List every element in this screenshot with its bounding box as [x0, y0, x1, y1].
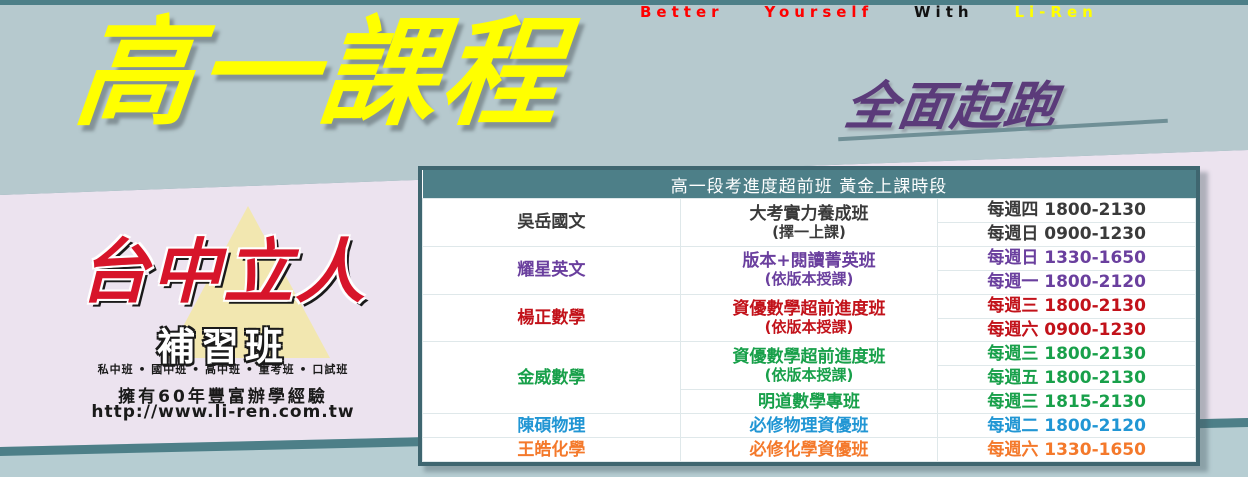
table-header-title: 高一段考進度超前班 黃金上課時段 [423, 170, 1196, 199]
tagline-word-better: Better [640, 3, 724, 21]
table-row: 楊正數學資優數學超前進度班(依版本授課)每週三 1800-2130 [423, 294, 1196, 318]
cell-time: 每週六 1330-1650 [938, 438, 1196, 462]
cell-course: 資優數學超前進度班(依版本授課) [680, 294, 938, 342]
cell-course: 版本+閱讀菁英班(依版本授課) [680, 246, 938, 294]
cell-time: 每週二 1800-2120 [938, 414, 1196, 438]
tagline-word-with: With [914, 3, 974, 21]
logo-website-url[interactable]: http://www.li-ren.com.tw [58, 402, 388, 422]
cell-time: 每週三 1815-2130 [938, 390, 1196, 414]
schedule-table-container: 高一段考進度超前班 黃金上課時段 吳岳國文大考實力養成班(擇一上課)每週四 18… [418, 166, 1200, 466]
cell-time: 每週日 0900-1230 [938, 222, 1196, 246]
cell-course: 必修化學資優班 [680, 438, 938, 462]
logo-brand-name: 台中立人 [58, 216, 388, 317]
schedule-table: 高一段考進度超前班 黃金上課時段 吳岳國文大考實力養成班(擇一上課)每週四 18… [422, 170, 1196, 462]
table-row: 吳岳國文大考實力養成班(擇一上課)每週四 1800-2130 [423, 199, 1196, 223]
cell-teacher: 金威數學 [423, 342, 681, 414]
cell-course: 必修物理資優班 [680, 414, 938, 438]
logo: 台中立人 補習班 私中班 • 國中班 • 高中班 • 重考班 • 口試班 擁有6… [58, 206, 388, 416]
tagline: Better Yourself With Li-Ren [640, 3, 1098, 21]
table-row: 王皓化學必修化學資優班每週六 1330-1650 [423, 438, 1196, 462]
cell-time: 每週五 1800-2130 [938, 366, 1196, 390]
table-row: 金威數學資優數學超前進度班(依版本授課)每週三 1800-2130 [423, 342, 1196, 366]
cell-teacher: 耀星英文 [423, 246, 681, 294]
tagline-word-liren: Li-Ren [1014, 3, 1097, 21]
cell-time: 每週一 1800-2120 [938, 270, 1196, 294]
cell-course: 大考實力養成班(擇一上課) [680, 199, 938, 247]
tagline-word-yourself: Yourself [764, 3, 873, 21]
cell-teacher: 吳岳國文 [423, 199, 681, 247]
cell-time: 每週四 1800-2130 [938, 199, 1196, 223]
logo-class-list: 私中班 • 國中班 • 高中班 • 重考班 • 口試班 [58, 361, 388, 377]
cell-teacher: 王皓化學 [423, 438, 681, 462]
cell-course-note: (依版本授課) [683, 367, 936, 385]
cell-course-note: (擇一上課) [683, 224, 936, 242]
cell-time: 每週三 1800-2130 [938, 294, 1196, 318]
table-header-row: 高一段考進度超前班 黃金上課時段 [423, 170, 1196, 199]
page-title: 高一課程 [69, 8, 571, 138]
cell-time: 每週六 0900-1230 [938, 318, 1196, 342]
table-row: 耀星英文版本+閱讀菁英班(依版本授課)每週日 1330-1650 [423, 246, 1196, 270]
cell-teacher: 楊正數學 [423, 294, 681, 342]
poster-canvas: Better Yourself With Li-Ren 高一課程 全面起跑 台中… [0, 0, 1248, 477]
cell-course-note: (依版本授課) [683, 319, 936, 337]
schedule-table-body: 吳岳國文大考實力養成班(擇一上課)每週四 1800-2130每週日 0900-1… [423, 199, 1196, 462]
table-row: 陳碩物理必修物理資優班每週二 1800-2120 [423, 414, 1196, 438]
cell-course: 明道數學專班 [680, 390, 938, 414]
cell-teacher: 陳碩物理 [423, 414, 681, 438]
cell-time: 每週三 1800-2130 [938, 342, 1196, 366]
cell-course: 資優數學超前進度班(依版本授課) [680, 342, 938, 390]
cell-time: 每週日 1330-1650 [938, 246, 1196, 270]
cell-course-note: (依版本授課) [683, 271, 936, 289]
